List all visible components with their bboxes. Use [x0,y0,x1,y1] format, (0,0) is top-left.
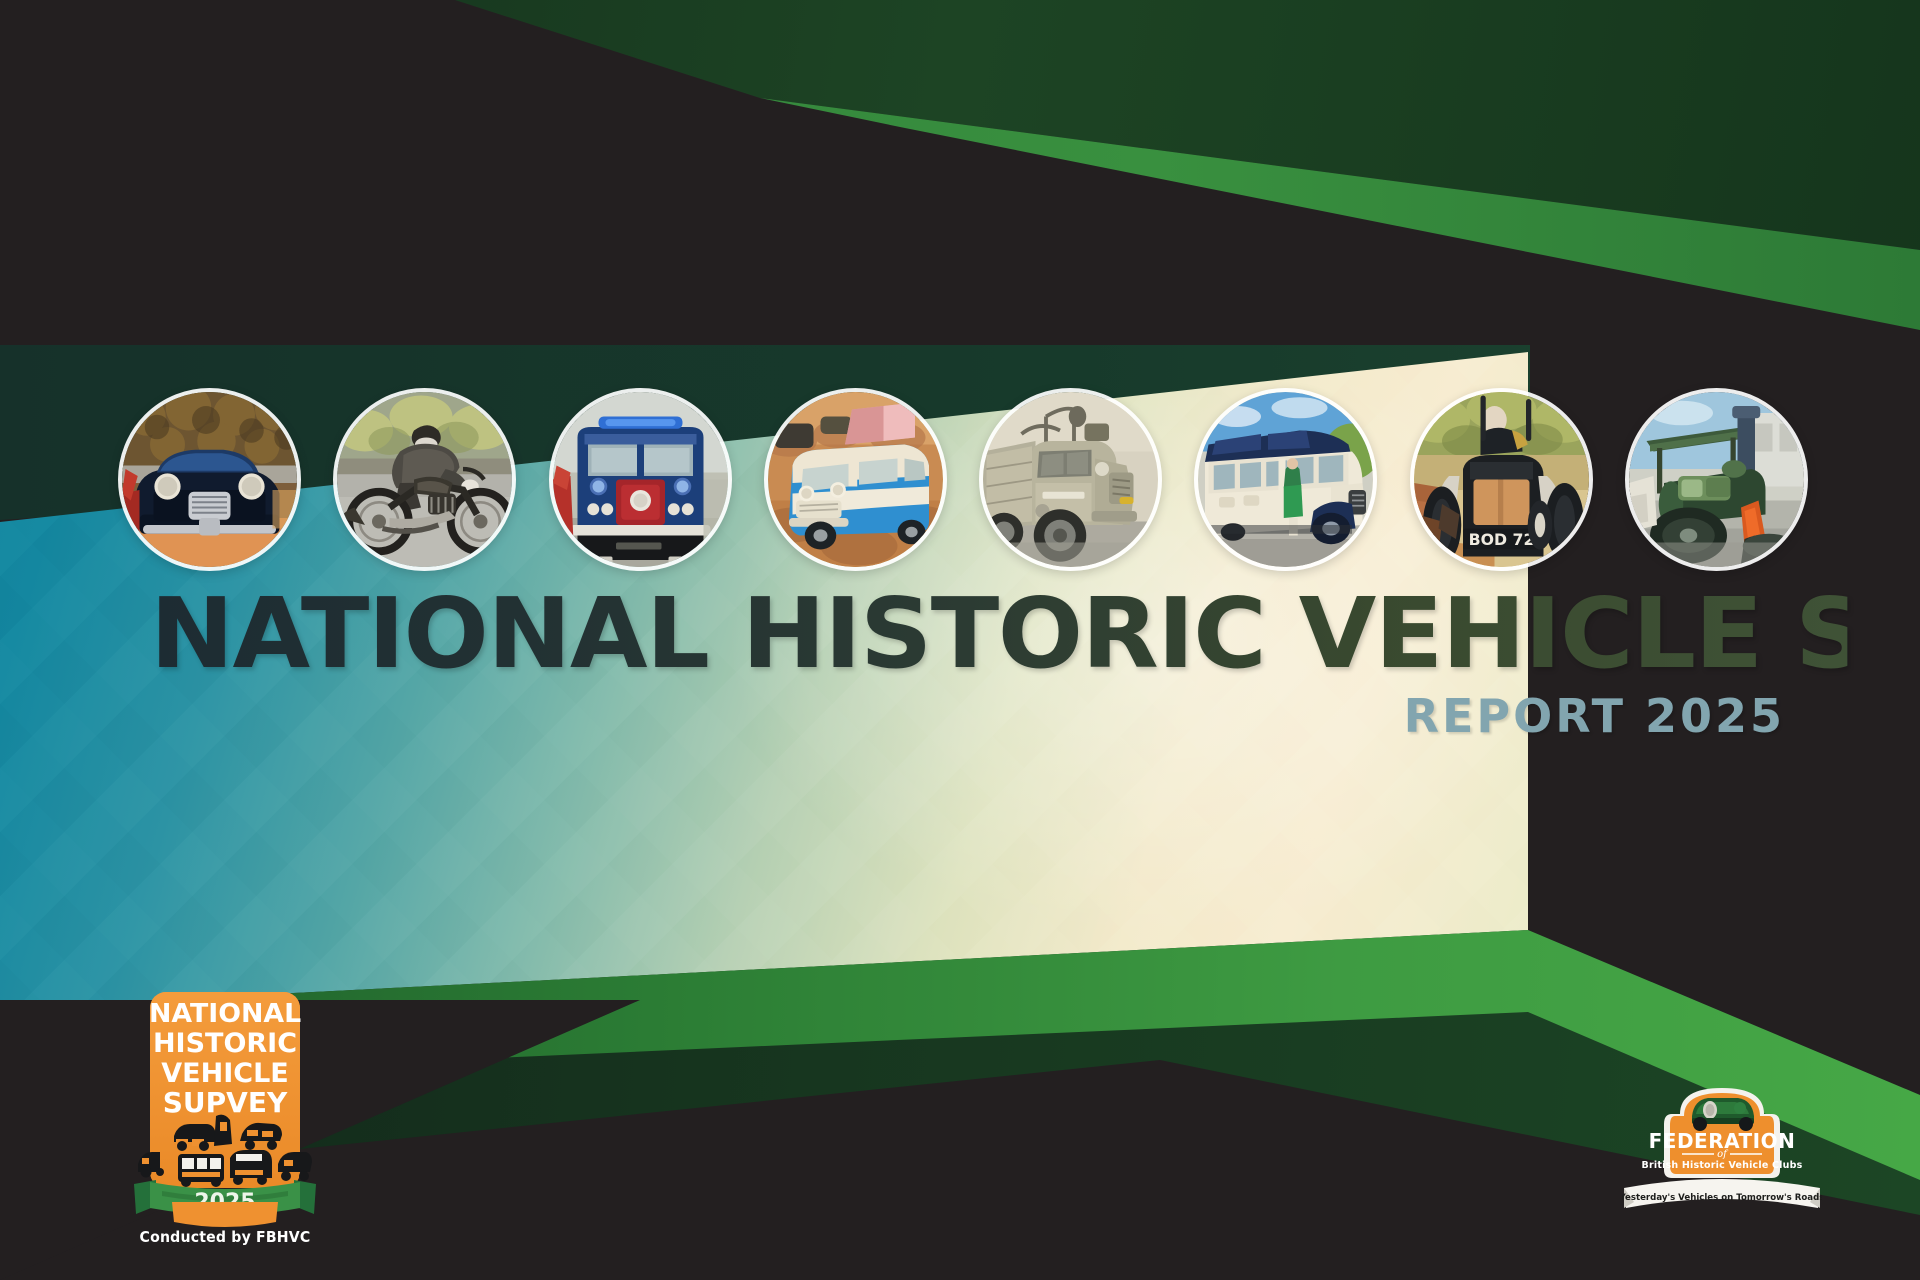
page-subtitle: REPORT 2025 [150,689,1790,743]
vehicle-circle-military-truck [979,388,1162,571]
vehicle-circle-vintage-motorcycle [333,388,516,571]
nhvs-logo-line-4: SUPVEY [163,1086,288,1119]
vehicle-circle-classic-sports-car [118,388,301,571]
nhvs-logo-line-3: VEHICLE [161,1058,288,1089]
page-title: NATIONAL HISTORIC VEHICLE SURVEY [150,586,1847,681]
vehicle-circle-vintage-lorry [549,388,732,571]
vehicle-circle-vintage-tractor: BOD 72 [1410,388,1593,571]
vehicle-circle-campervan [764,388,947,571]
vehicle-photo-row: BOD 72 [118,384,1808,574]
nhvs-logo-line-1: NATIONAL [149,999,301,1029]
fbhvc-logo-subtitle: British Historic Vehicle Clubs [1642,1160,1803,1171]
svg-text:BOD 72: BOD 72 [1468,530,1534,549]
vehicle-circle-vintage-coach [1194,388,1377,571]
fbhvc-federation-logo: FEDERATION of British Historic Vehicle C… [1622,1078,1822,1223]
vehicle-circle-steam-traction-engine [1625,388,1808,571]
fbhvc-logo-ribbon-text: Yesterday's Vehicles on Tomorrow's Roads [1622,1193,1822,1203]
nhvs-logo-caption: Conducted by FBHVC [126,1228,323,1246]
report-cover-page: BOD 72 [0,0,1920,1280]
cover-headline: NATIONAL HISTORIC VEHICLE SURVEY REPORT … [150,586,1790,743]
national-historic-vehicle-survey-logo: NATIONAL HISTORIC VEHICLE SUPVEY [120,988,330,1238]
nhvs-logo-line-2: HISTORIC [153,1028,297,1059]
